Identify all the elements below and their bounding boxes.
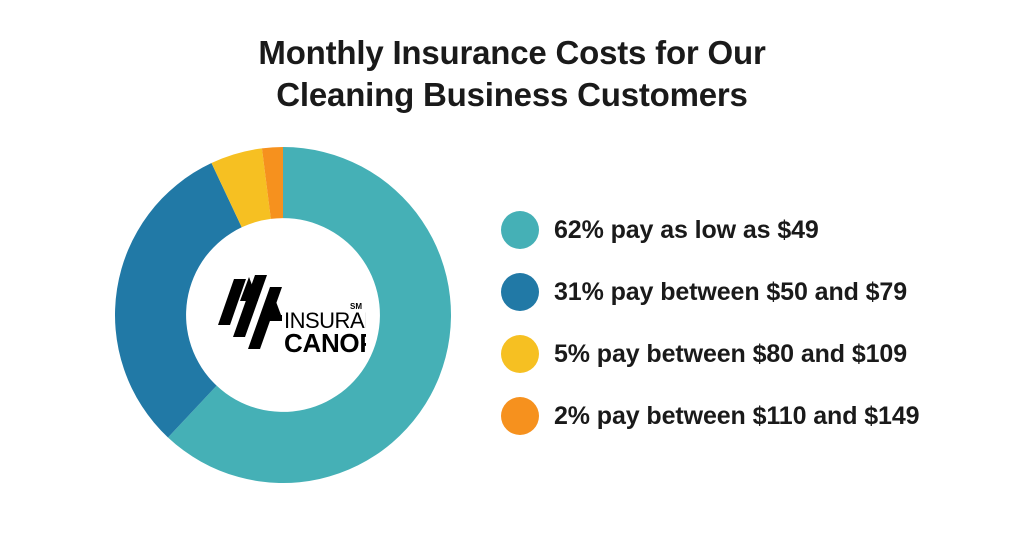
legend-item-label: 31% pay between $50 and $79: [554, 278, 907, 307]
legend-item-label: 2% pay between $110 and $149: [554, 402, 919, 431]
legend-swatch-icon: [501, 211, 539, 249]
page-title: Monthly Insurance Costs for Our Cleaning…: [0, 32, 1024, 116]
legend-item[interactable]: 62% pay as low as $49: [501, 199, 971, 261]
legend-swatch-icon: [501, 397, 539, 435]
legend-swatch-icon: [501, 335, 539, 373]
infographic-canvas: Monthly Insurance Costs for Our Cleaning…: [0, 0, 1024, 545]
page-title-line-1: Monthly Insurance Costs for Our: [0, 32, 1024, 74]
donut-chart-svg: [115, 147, 451, 483]
legend-item-label: 62% pay as low as $49: [554, 216, 819, 245]
legend-item[interactable]: 5% pay between $80 and $109: [501, 323, 971, 385]
page-title-line-2: Cleaning Business Customers: [0, 74, 1024, 116]
legend-item[interactable]: 31% pay between $50 and $79: [501, 261, 971, 323]
donut-chart: [115, 147, 451, 483]
chart-legend: 62% pay as low as $49 31% pay between $5…: [501, 199, 971, 447]
legend-swatch-icon: [501, 273, 539, 311]
legend-item[interactable]: 2% pay between $110 and $149: [501, 385, 971, 447]
legend-item-label: 5% pay between $80 and $109: [554, 340, 907, 369]
